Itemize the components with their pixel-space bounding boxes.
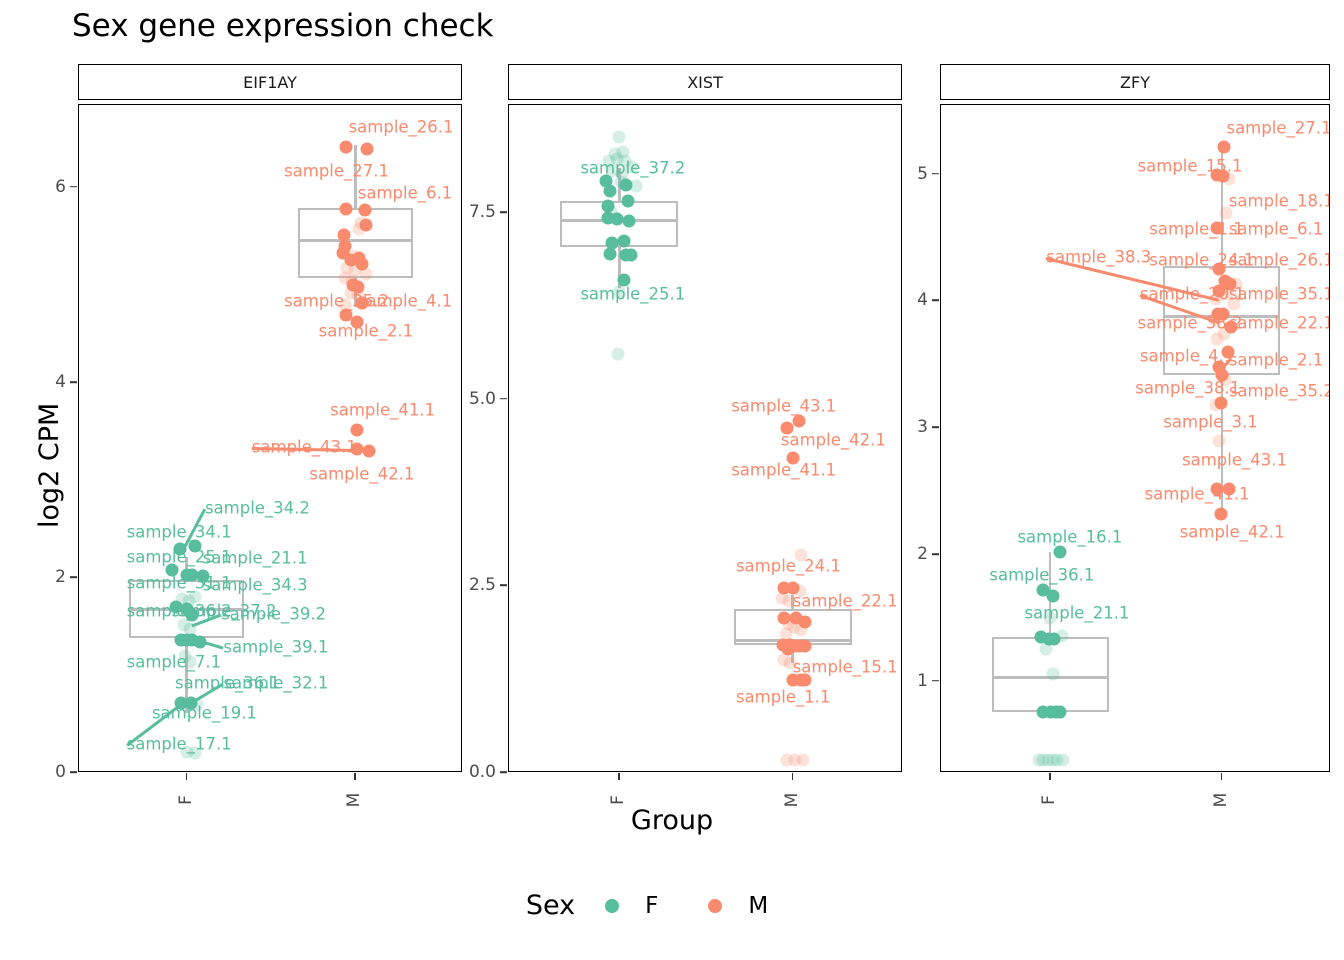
- data-point: [352, 222, 365, 235]
- point-label: sample_4.1: [358, 292, 452, 311]
- y-tick-mark: [70, 381, 77, 383]
- point-label: sample_26.1: [1229, 250, 1330, 269]
- point-label: sample_41.1: [731, 460, 836, 479]
- point-label: sample_34.3: [203, 575, 308, 594]
- data-point: [625, 249, 638, 262]
- legend-keys: FM: [605, 893, 818, 919]
- y-tick-label: 3: [868, 417, 928, 437]
- x-tick-mark: [1221, 773, 1223, 780]
- y-tick-label: 1: [868, 671, 928, 691]
- facet-panel-xist: XISTsample_37.2sample_25.1sample_43.1sam…: [508, 64, 902, 772]
- y-axis-label: log2 CPM: [34, 403, 65, 528]
- point-label: sample_34.2: [205, 498, 310, 517]
- data-point: [1057, 754, 1070, 767]
- facet-strip-label: XIST: [508, 64, 902, 100]
- y-tick-mark: [932, 426, 939, 428]
- point-label: sample_24.1: [736, 556, 841, 575]
- point-label: sample_27.1: [1226, 118, 1330, 137]
- y-tick-mark: [70, 576, 77, 578]
- data-point: [1209, 399, 1222, 412]
- chart-title: Sex gene expression check: [72, 8, 494, 44]
- y-tick-mark: [70, 771, 77, 773]
- data-point: [363, 445, 376, 458]
- point-label: sample_21.1: [1024, 604, 1129, 623]
- y-tick-label: 0.0: [436, 762, 496, 782]
- data-point: [1055, 630, 1068, 643]
- panel-plot-area: sample_34.2sample_34.1sample_25.1sample_…: [78, 104, 462, 772]
- chart-canvas: Sex gene expression check log2 CPM Group…: [0, 0, 1344, 960]
- point-label: sample_35.1: [1229, 284, 1330, 303]
- point-label: sample_41.1: [1145, 485, 1250, 504]
- y-tick-label: 4: [868, 290, 928, 310]
- point-label: sample_2.1: [1229, 350, 1323, 369]
- point-label: sample_41.1: [330, 401, 435, 420]
- point-label: sample_42.1: [1180, 523, 1285, 542]
- point-label: sample_32.1: [223, 674, 328, 693]
- point-label: sample_43.1: [731, 396, 836, 415]
- data-point: [340, 203, 353, 216]
- x-tick-label-f: F: [608, 780, 628, 820]
- data-point: [612, 347, 625, 360]
- point-label: sample_22.1: [1229, 314, 1330, 333]
- legend-label: F: [645, 893, 658, 919]
- point-label: sample_38.3: [1046, 248, 1151, 267]
- x-axis-label: Group: [0, 805, 1344, 836]
- data-point: [1053, 546, 1066, 559]
- point-label: sample_35.2: [1229, 382, 1330, 401]
- y-tick-mark: [70, 186, 77, 188]
- y-tick-mark: [500, 585, 507, 587]
- y-tick-mark: [500, 211, 507, 213]
- legend-key-m[interactable]: M: [708, 893, 796, 919]
- y-tick-mark: [500, 398, 507, 400]
- point-label: sample_6.1: [1229, 220, 1323, 239]
- point-label: sample_4.1: [1140, 346, 1234, 365]
- y-tick-mark: [932, 300, 939, 302]
- data-point: [1213, 434, 1226, 447]
- point-label: sample_15.1: [1138, 156, 1243, 175]
- point-label: sample_39.1: [223, 638, 328, 657]
- point-label: sample_25.1: [580, 284, 685, 303]
- data-point: [340, 140, 353, 153]
- x-tick-mark: [354, 773, 356, 780]
- legend-label: M: [748, 893, 768, 919]
- y-tick-label: 4: [6, 372, 66, 392]
- y-tick-mark: [500, 771, 507, 773]
- point-label: sample_2.1: [319, 322, 413, 341]
- data-point: [621, 195, 634, 208]
- y-tick-label: 2.5: [436, 575, 496, 595]
- point-label: sample_36.1: [989, 566, 1094, 585]
- point-label: sample_21.1: [203, 549, 308, 568]
- data-point: [1053, 706, 1066, 719]
- legend: Sex FM: [0, 890, 1344, 921]
- point-label: sample_3.1: [1163, 412, 1257, 431]
- data-point: [622, 214, 635, 227]
- data-point: [359, 267, 372, 280]
- data-point: [798, 640, 811, 653]
- data-point: [1211, 333, 1224, 346]
- data-point: [792, 414, 805, 427]
- data-point: [613, 131, 626, 144]
- x-tick-mark: [618, 773, 620, 780]
- data-point: [1046, 589, 1059, 602]
- y-tick-label: 6: [6, 177, 66, 197]
- y-tick-mark: [932, 680, 939, 682]
- y-tick-label: 7.5: [436, 202, 496, 222]
- point-label: sample_34.1: [127, 523, 232, 542]
- point-label: sample_16.1: [1017, 528, 1122, 547]
- x-tick-label-f: F: [176, 780, 196, 820]
- point-label: sample_38.1: [1135, 378, 1240, 397]
- point-label: sample_37.2: [580, 159, 685, 178]
- data-point: [361, 142, 374, 155]
- point-label: sample_22.1: [793, 592, 898, 611]
- point-label: sample_43.1: [1182, 450, 1287, 469]
- legend-dot-icon: [708, 899, 722, 913]
- data-point: [358, 204, 371, 217]
- x-tick-label-m: M: [344, 780, 364, 820]
- data-point: [603, 247, 616, 260]
- data-point: [350, 423, 363, 436]
- point-label: sample_1.1: [736, 687, 830, 706]
- data-point: [603, 184, 616, 197]
- x-tick-mark: [792, 773, 794, 780]
- facet-strip-label: EIF1AY: [78, 64, 462, 100]
- facet-strip-label: ZFY: [940, 64, 1330, 100]
- data-point: [629, 180, 642, 193]
- point-label: sample_27.1: [284, 162, 389, 181]
- data-point: [1039, 642, 1052, 655]
- point-label: sample_17.1: [127, 734, 232, 753]
- x-tick-label-m: M: [1211, 780, 1231, 820]
- point-label: sample_42.1: [309, 464, 414, 483]
- point-label: sample_38.2: [1138, 314, 1243, 333]
- x-tick-label-m: M: [782, 780, 802, 820]
- point-label: sample_26.1: [349, 118, 454, 137]
- point-label: sample_43.1: [252, 438, 357, 457]
- data-point: [797, 753, 810, 766]
- x-tick-mark: [1049, 773, 1051, 780]
- point-label: sample_39.2: [221, 605, 326, 624]
- legend-title: Sex: [526, 890, 575, 921]
- legend-key-f[interactable]: F: [605, 893, 686, 919]
- y-tick-mark: [932, 553, 939, 555]
- point-label: sample_6.1: [358, 183, 452, 202]
- y-tick-label: 2: [6, 567, 66, 587]
- data-point: [1046, 668, 1059, 681]
- point-label: sample_18.1: [1229, 192, 1330, 211]
- data-point: [618, 234, 631, 247]
- data-point: [794, 623, 807, 636]
- facet-panel-zfy: ZFYsample_16.1sample_36.1sample_21.1samp…: [940, 64, 1330, 772]
- panel-plot-area: sample_16.1sample_36.1sample_21.1sample_…: [940, 104, 1330, 772]
- y-tick-label: 2: [868, 544, 928, 564]
- data-point: [1214, 508, 1227, 521]
- y-tick-label: 5: [868, 164, 928, 184]
- x-tick-mark: [186, 773, 188, 780]
- legend-dot-icon: [605, 899, 619, 913]
- point-label: sample_7.1: [127, 652, 221, 671]
- y-tick-label: 5.0: [436, 389, 496, 409]
- panel-plot-area: sample_37.2sample_25.1sample_43.1sample_…: [508, 104, 902, 772]
- y-tick-label: 0: [6, 762, 66, 782]
- boxplot-median-line: [298, 239, 413, 242]
- x-tick-label-f: F: [1039, 780, 1059, 820]
- facet-panel-eif1ay: EIF1AYsample_34.2sample_34.1sample_25.1s…: [78, 64, 462, 772]
- data-point: [1218, 140, 1231, 153]
- y-tick-mark: [932, 173, 939, 175]
